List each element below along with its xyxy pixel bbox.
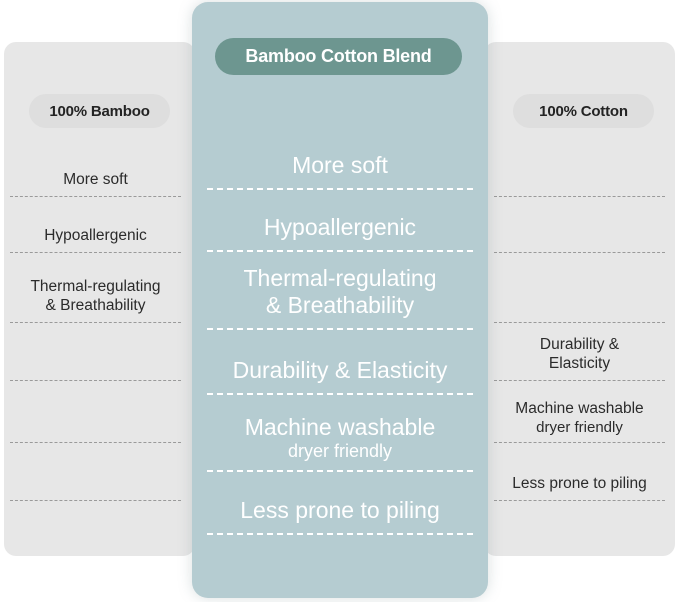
feature-row: Thermal-regulating & Breathability xyxy=(207,252,473,330)
feature-row-empty xyxy=(494,197,665,253)
feature-label: Less prone to piling xyxy=(512,475,646,494)
feature-row-empty xyxy=(494,253,665,323)
feature-divider xyxy=(207,250,473,252)
feature-row-empty xyxy=(10,381,181,443)
feature-divider xyxy=(494,380,665,381)
column-badge-bamboo: 100% Bamboo xyxy=(29,94,170,128)
feature-list-bamboo: More soft Hypoallergenic Thermal-regulat… xyxy=(10,146,181,501)
feature-divider xyxy=(10,442,181,443)
feature-divider xyxy=(10,252,181,253)
feature-label: Machine washable xyxy=(515,400,643,419)
feature-divider xyxy=(494,322,665,323)
column-badge-cotton: 100% Cotton xyxy=(513,94,654,128)
feature-label: More soft xyxy=(292,152,388,180)
feature-label-line2: & Breathability xyxy=(266,292,414,320)
feature-divider xyxy=(494,252,665,253)
feature-row: Less prone to piling xyxy=(207,472,473,535)
feature-divider xyxy=(494,196,665,197)
feature-row: More soft xyxy=(207,132,473,190)
feature-divider xyxy=(207,533,473,535)
feature-sublabel: dryer friendly xyxy=(536,419,623,436)
column-card-blend-highlighted: Bamboo Cotton Blend More soft Hypoallerg… xyxy=(192,2,488,598)
feature-label-line2: & Breathability xyxy=(46,297,146,316)
feature-row: More soft xyxy=(10,146,181,197)
feature-label: Less prone to piling xyxy=(240,497,439,525)
feature-row: Less prone to piling xyxy=(494,443,665,501)
feature-divider xyxy=(10,500,181,501)
feature-row: Durability & Elasticity xyxy=(494,323,665,381)
feature-row-empty xyxy=(10,443,181,501)
feature-divider xyxy=(10,322,181,323)
feature-label: Thermal-regulating xyxy=(243,265,436,293)
feature-label-line2: Elasticity xyxy=(549,355,610,374)
feature-label: Hypoallergenic xyxy=(264,214,416,242)
feature-label: Durability & Elasticity xyxy=(233,357,448,385)
feature-label: More soft xyxy=(63,171,128,190)
feature-row: Machine washable dryer friendly xyxy=(207,395,473,472)
feature-row: Thermal-regulating & Breathability xyxy=(10,253,181,323)
column-badge-label-bamboo: 100% Bamboo xyxy=(49,103,149,120)
feature-divider xyxy=(207,328,473,330)
feature-label: Hypoallergenic xyxy=(44,227,147,246)
feature-row: Hypoallergenic xyxy=(207,190,473,252)
feature-row: Durability & Elasticity xyxy=(207,330,473,395)
feature-row-empty xyxy=(10,323,181,381)
feature-row-empty xyxy=(494,146,665,197)
feature-divider xyxy=(494,442,665,443)
feature-divider xyxy=(10,380,181,381)
feature-label: Durability & xyxy=(540,336,619,355)
feature-list-cotton: Durability & Elasticity Machine washable… xyxy=(494,146,665,501)
column-badge-blend: Bamboo Cotton Blend xyxy=(215,38,462,75)
feature-sublabel: dryer friendly xyxy=(288,441,392,462)
feature-list-blend: More soft Hypoallergenic Thermal-regulat… xyxy=(207,132,473,535)
comparison-diagram: 100% Bamboo More soft Hypoallergenic The… xyxy=(0,0,679,602)
feature-row: Machine washable dryer friendly xyxy=(494,381,665,443)
feature-divider xyxy=(207,393,473,395)
column-badge-label-blend: Bamboo Cotton Blend xyxy=(245,46,431,67)
feature-row: Hypoallergenic xyxy=(10,197,181,253)
feature-label: Machine washable xyxy=(245,414,436,442)
feature-label: Thermal-regulating xyxy=(30,278,160,297)
column-badge-label-cotton: 100% Cotton xyxy=(539,103,628,120)
feature-divider xyxy=(494,500,665,501)
feature-divider xyxy=(207,188,473,190)
feature-divider xyxy=(10,196,181,197)
feature-divider xyxy=(207,470,473,472)
